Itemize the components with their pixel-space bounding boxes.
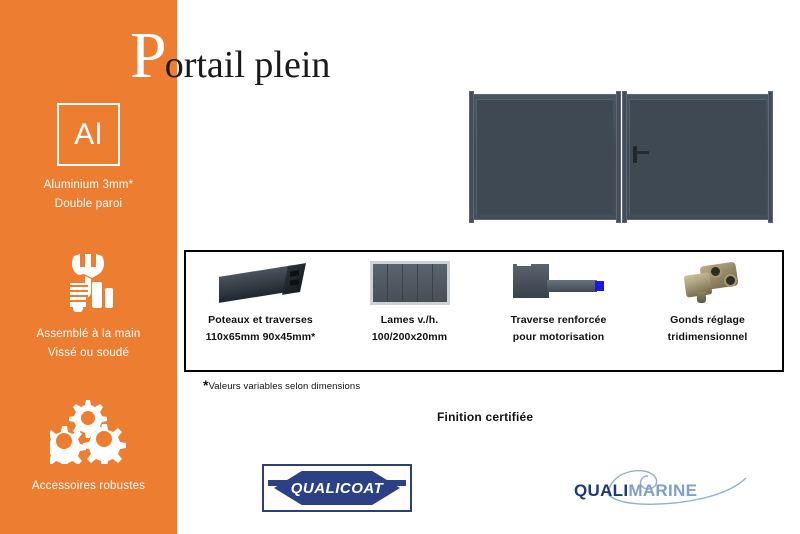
sidebar-feature-assembly-line-2: Vissé ou soudé (0, 344, 177, 363)
slats-panel-icon (370, 258, 450, 308)
feature-cell-slats: Lames v./h. 100/200x20mm (335, 252, 484, 370)
feature-cell-hinges-line-2: tridimensionnel (668, 329, 748, 346)
feature-cell-slats-line-2: 100/200x20mm (372, 329, 447, 346)
footnote-text: Valeurs variables selon dimensions (209, 381, 361, 392)
feature-cell-posts-line-2: 110x65mm 90x45mm* (206, 329, 316, 346)
qualimarine-logo-text-marine: MARINE (628, 481, 697, 500)
gate-handle-arm-icon (636, 151, 649, 154)
gate-panel-left-fill (476, 99, 613, 215)
qualimarine-logo: QUALIMARINE (566, 470, 738, 510)
gears-icon (0, 398, 177, 469)
gate-panel-right (624, 94, 771, 220)
gate-panel-left (471, 94, 618, 220)
gate-post-left (469, 91, 474, 223)
sidebar-feature-aluminium-line-1: Aluminium 3mm* (0, 176, 177, 195)
aluminium-al-box-icon: Al (57, 103, 120, 166)
feature-cell-posts-line-1: Poteaux et traverses (208, 312, 313, 329)
feature-cell-motor-crossbar-line-1: Traverse renforcée (511, 312, 607, 329)
gate-post-center-left (616, 91, 621, 223)
qualimarine-logo-text-quali: QUALI (574, 481, 628, 500)
feature-cell-motor-crossbar: Traverse renforcée pour motorisation (484, 252, 633, 370)
sidebar-feature-aluminium-line-2: Double paroi (0, 195, 177, 214)
sidebar-feature-assembly: Assemblé à la main Vissé ou soudé (0, 252, 177, 363)
qualicoat-logo-text: QUALICOAT (291, 480, 384, 497)
double-swing-gate-image (471, 94, 771, 220)
slide-root: Al Aluminium 3mm* Double paroi (0, 0, 800, 534)
sidebar-feature-accessories-line-1: Accessoires robustes (0, 477, 177, 496)
certification-title: Finition certifiée (437, 410, 533, 424)
gate-post-right (768, 91, 773, 223)
gate-handle-icon (633, 146, 637, 163)
sidebar-feature-accessories: Accessoires robustes (0, 398, 177, 496)
feature-cell-hinges: Gonds réglage tridimensionnel (633, 252, 782, 370)
feature-specs-box: Poteaux et traverses 110x65mm 90x45mm* L… (184, 250, 784, 372)
page-title: P ortail plein (130, 24, 330, 88)
sidebar-feature-aluminium: Al Aluminium 3mm* Double paroi (0, 103, 177, 214)
gate-panel-right-fill (629, 99, 766, 215)
page-title-text: ortail plein (165, 43, 331, 87)
hand-wrench-icon (0, 252, 177, 317)
gate-post-center-right (622, 91, 627, 223)
feature-cell-hinges-line-1: Gonds réglage (670, 312, 745, 329)
aluminium-profile-icon (219, 258, 303, 308)
qualicoat-diamond-icon: QUALICOAT (274, 471, 400, 505)
page-title-initial: P (130, 24, 167, 88)
al-symbol-label: Al (59, 118, 118, 152)
sidebar-feature-assembly-line-1: Assemblé à la main (0, 325, 177, 344)
feature-cell-slats-line-1: Lames v./h. (381, 312, 439, 329)
footnote: *Valeurs variables selon dimensions (203, 381, 360, 392)
qualimarine-logo-text: QUALIMARINE (574, 481, 697, 501)
feature-cell-motor-crossbar-line-2: pour motorisation (513, 329, 605, 346)
reinforced-crossbar-motor-icon (511, 258, 607, 308)
adjustable-hinge-icon (677, 258, 739, 308)
qualicoat-logo: QUALICOAT (262, 464, 412, 512)
feature-cell-posts: Poteaux et traverses 110x65mm 90x45mm* (186, 252, 335, 370)
